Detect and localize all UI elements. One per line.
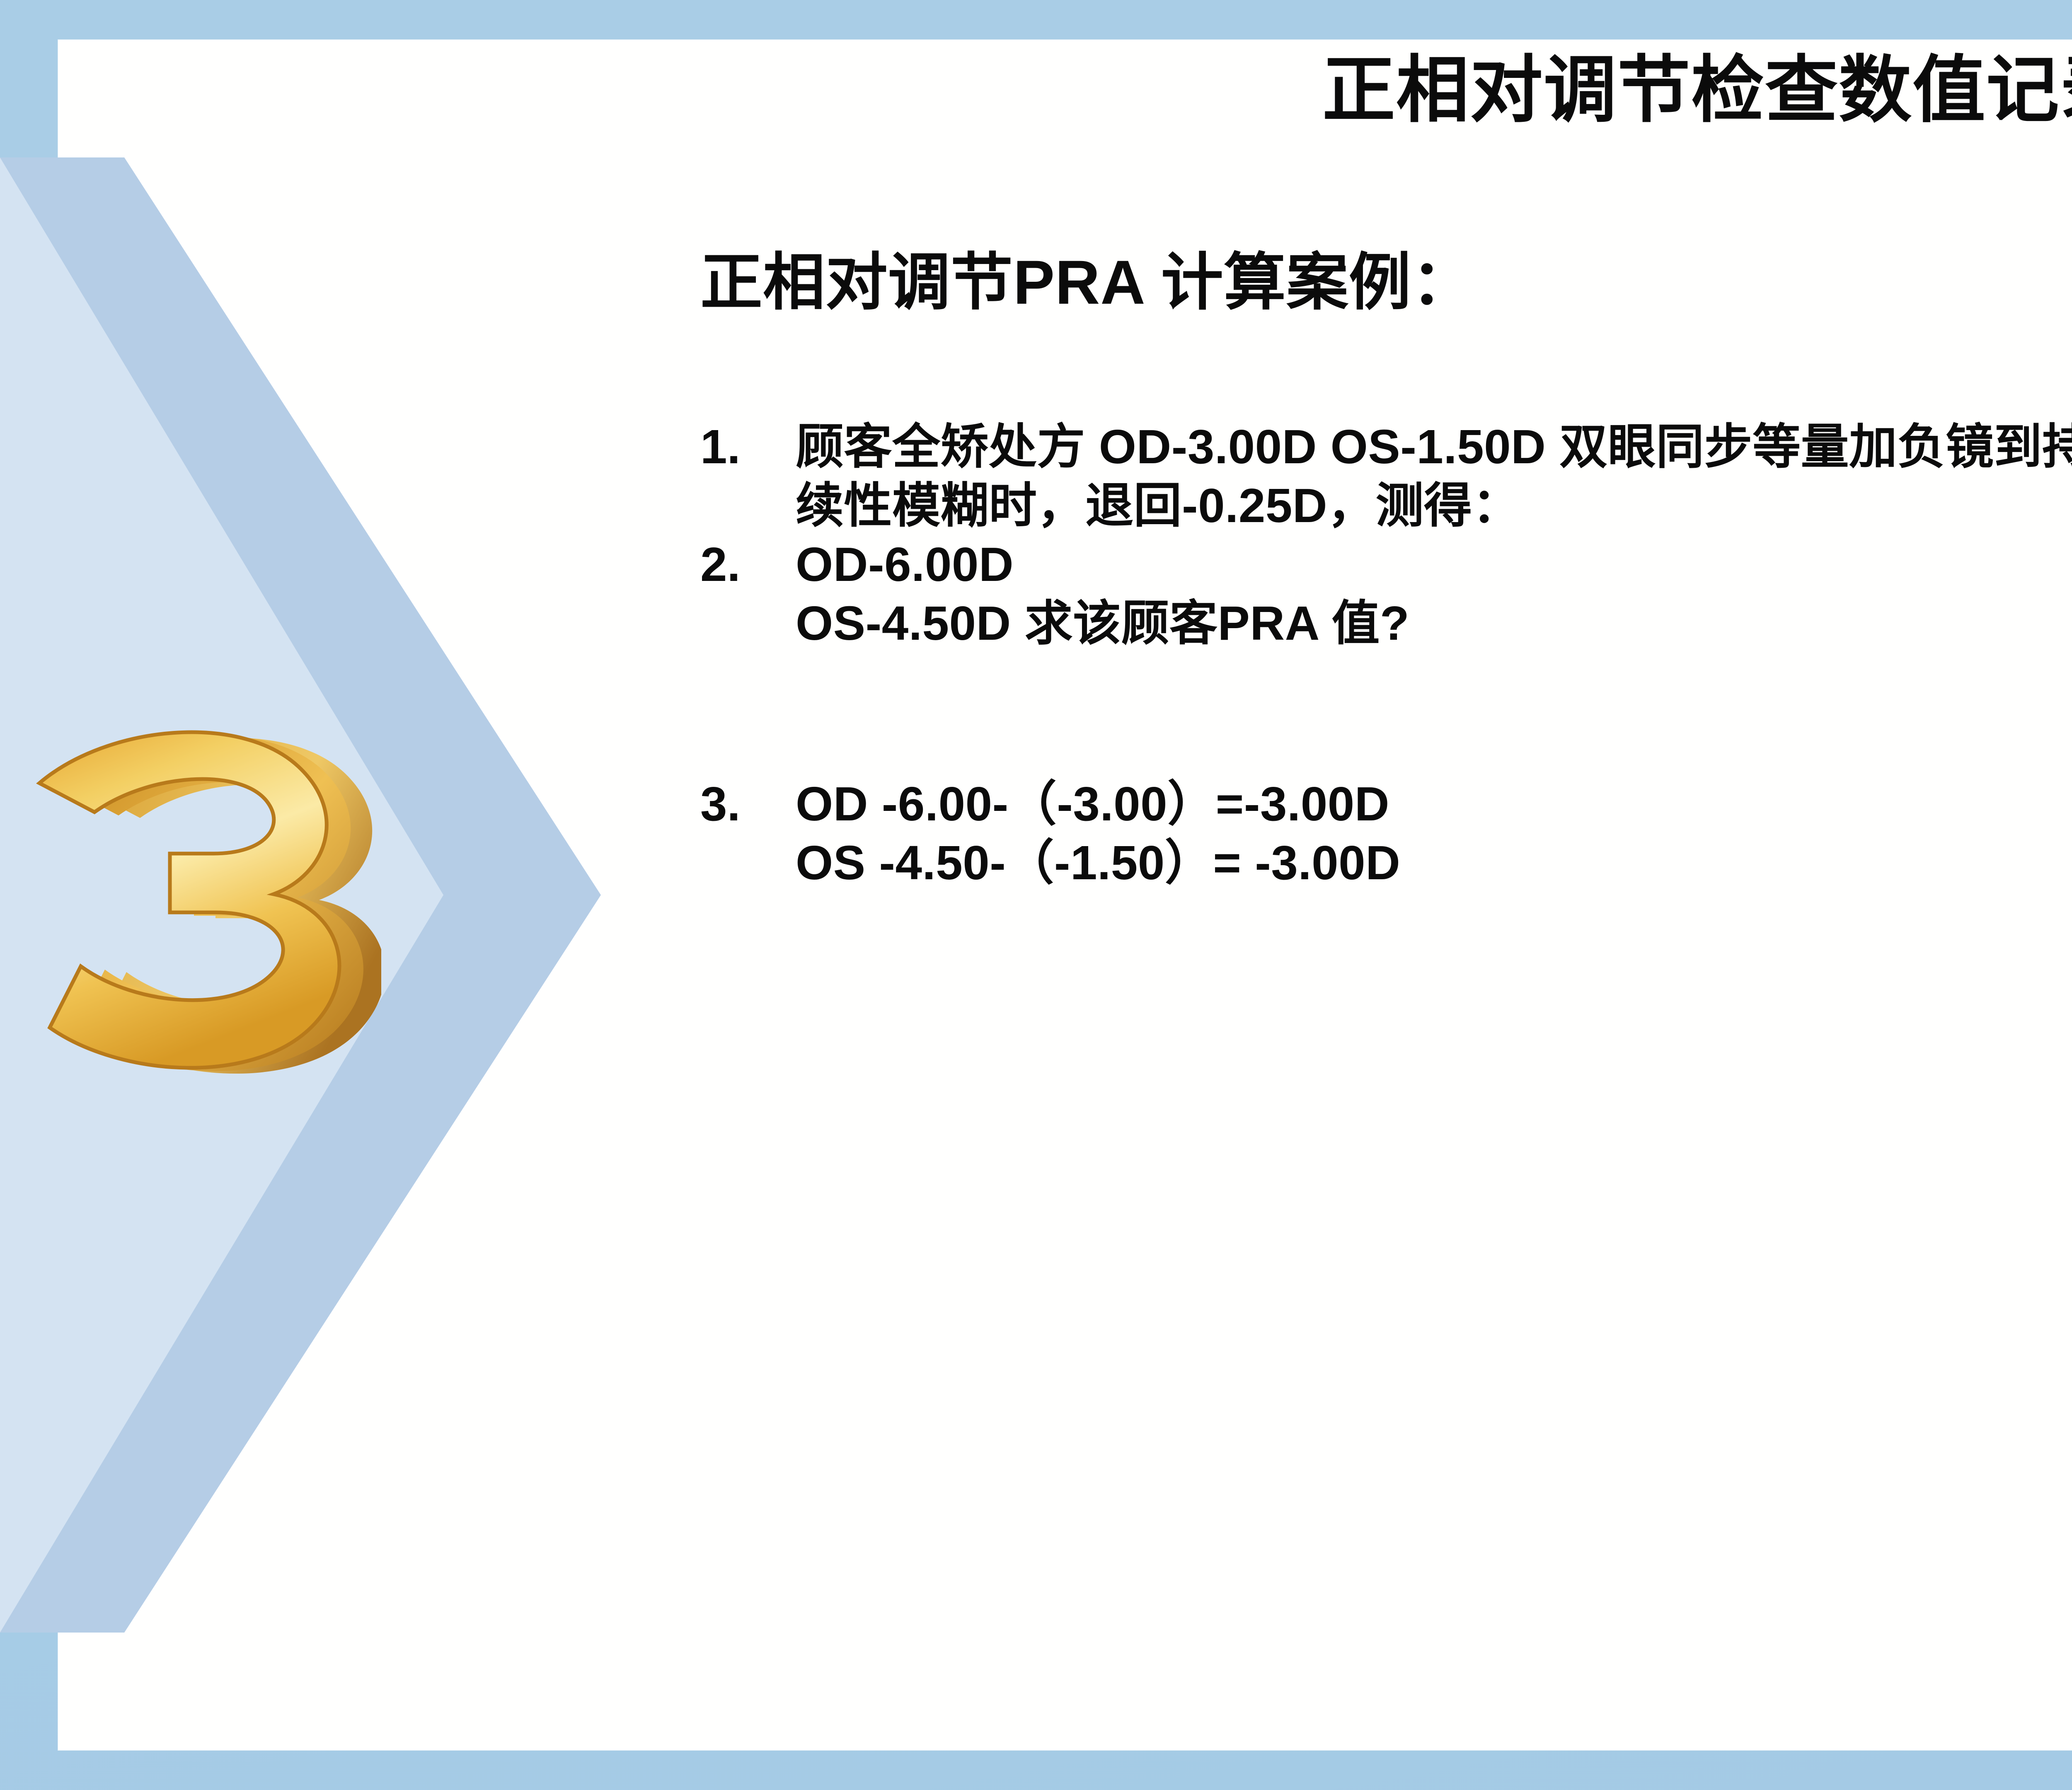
list-item-marker: 1.	[700, 423, 771, 471]
list-item-line: 顾客全矫处方 OD-3.00D OS-1.50D 双眼同步等量加负镜到持	[796, 423, 2072, 471]
list-item-lines: OD -6.00-（-3.00）=-3.00D OS -4.50-（-1.50）…	[796, 780, 2072, 887]
slide-root: 正相对调节检查数值记录 正相对调节PRA 计算案例： 1. 顾客全矫处方 OD-…	[0, 0, 2072, 1790]
list-item-marker: 3.	[700, 780, 771, 828]
list-item: 2. OD-6.00D OS-4.50D 求该顾客PRA 值?	[700, 540, 2072, 647]
list-item-line: OS-4.50D 求该顾客PRA 值?	[796, 599, 2072, 647]
slide-number-badge	[0, 659, 381, 1131]
list-item-lines: 顾客全矫处方 OD-3.00D OS-1.50D 双眼同步等量加负镜到持 续性模…	[796, 423, 2072, 530]
list-item: 1. 顾客全矫处方 OD-3.00D OS-1.50D 双眼同步等量加负镜到持 …	[700, 423, 2072, 530]
content-list: 1. 顾客全矫处方 OD-3.00D OS-1.50D 双眼同步等量加负镜到持 …	[700, 423, 2072, 887]
list-item: 3. OD -6.00-（-3.00）=-3.00D OS -4.50-（-1.…	[700, 780, 2072, 887]
list-item-line: OS -4.50-（-1.50）= -3.00D	[796, 839, 2072, 887]
gold-three-icon	[0, 659, 381, 1131]
list-item-lines: OD-6.00D OS-4.50D 求该顾客PRA 值?	[796, 540, 2072, 647]
page-title: 正相对调节检查数值记录	[307, 50, 2072, 131]
item-gap	[700, 647, 2072, 780]
list-item-line: OD -6.00-（-3.00）=-3.00D	[796, 780, 2072, 828]
list-item-line: 续性模糊时，退回-0.25D，测得：	[796, 481, 2072, 530]
list-item-marker: 2.	[700, 540, 771, 588]
page-subtitle: 正相对调节PRA 计算案例：	[700, 232, 1474, 322]
list-item-line: OD-6.00D	[796, 540, 2072, 588]
